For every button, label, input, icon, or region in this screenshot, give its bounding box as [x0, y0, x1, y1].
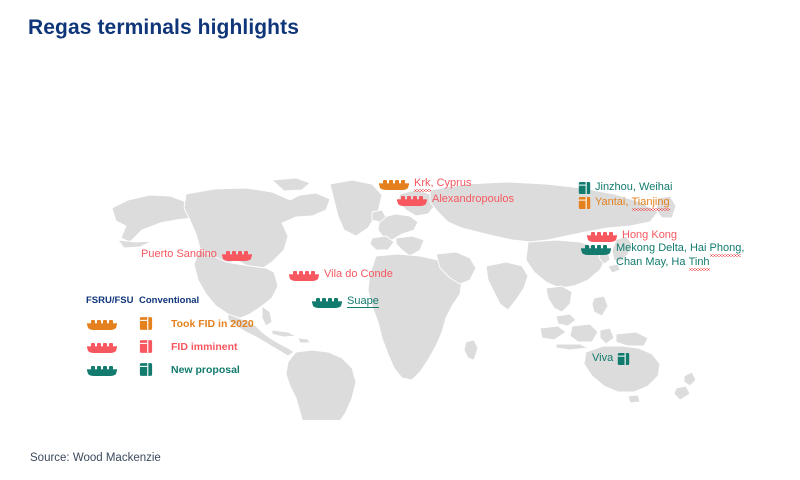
legend-header-conventional: Conventional: [139, 295, 199, 306]
marker-label-puerto-sandino: Puerto Sandino: [141, 248, 217, 262]
conventional-tank-icon: [139, 339, 153, 354]
landmass-italy-balkans: [396, 236, 424, 256]
landmass-hispaniola: [298, 338, 310, 343]
conventional-tank-icon: [578, 196, 591, 215]
landmass-india: [486, 262, 528, 310]
conventional-tank-icon: [139, 362, 153, 377]
marker-label-yantai-tianjing: Yantai, Tianjing: [595, 196, 670, 210]
marker-alexandropoulos[interactable]: Alexandropoulos: [396, 193, 514, 212]
marker-mekong-delta[interactable]: Mekong Delta, Hai Phong, Chan May, Ha Ti…: [580, 242, 744, 269]
fsru-ship-icon: [86, 317, 118, 331]
mekong-line1-a: Mekong Delta, Hai: [616, 242, 710, 254]
landmass-aleutians: [118, 240, 152, 248]
mekong-phong-misspelled: Phong: [710, 242, 742, 256]
marker-label-yantai: Yantai,: [595, 196, 632, 208]
landmass-south-america: [286, 350, 356, 420]
marker-label-tianjing-misspelled: Tianjing: [632, 196, 670, 210]
marker-label-mekong-line2: Chan May, Ha Tinh: [616, 256, 744, 270]
legend-conventional-icon-cell: [139, 362, 171, 377]
landmass-papua: [616, 332, 648, 346]
marker-puerto-sandino[interactable]: Puerto Sandino: [141, 248, 253, 267]
landmass-alaska: [112, 195, 196, 242]
legend-fsru-icon-cell: [86, 340, 139, 354]
marker-label-krk-cyprus: Krk, Cyprus: [414, 177, 471, 191]
landmass-philippines: [592, 296, 608, 316]
legend-row-fid-imminent[interactable]: FID imminent: [86, 337, 266, 356]
landmass-greenland: [330, 180, 382, 236]
landmass-baffin: [272, 178, 310, 191]
legend-header-row: FSRU/FSU Conventional: [86, 295, 266, 306]
mekong-line1-c: ,: [741, 242, 744, 254]
landmass-borneo: [570, 324, 598, 342]
landmass-tasmania: [628, 395, 640, 403]
marker-label-vila-do-conde: Vila do Conde: [324, 268, 393, 282]
marker-label-alexandropoulos: Alexandropoulos: [432, 193, 514, 207]
marker-label-jinzhou-weihai: Jinzhou, Weihai: [595, 181, 672, 195]
fsru-ship-icon: [311, 295, 343, 314]
landmass-indochina: [546, 286, 572, 312]
legend-fsru-icon-cell: [86, 317, 139, 331]
legend: FSRU/FSU Conventional: [86, 295, 266, 383]
slide-canvas: Regas terminals highlights: [0, 0, 800, 480]
fsru-ship-icon: [288, 268, 320, 287]
landmass-cuba: [272, 330, 296, 337]
mekong-line2-a: Chan May, Ha: [616, 256, 689, 268]
marker-label-cyprus: , Cyprus: [431, 177, 472, 189]
marker-label-suape-text: Suape: [347, 295, 379, 308]
landmass-new-zealand-n: [684, 372, 696, 386]
legend-conventional-icon-cell: [139, 316, 171, 331]
legend-header-fsru: FSRU/FSU: [86, 295, 139, 306]
fsru-ship-icon: [221, 248, 253, 267]
landmass-malaysia: [556, 314, 576, 326]
marker-suape[interactable]: Suape: [311, 295, 379, 314]
legend-conventional-icon-cell: [139, 339, 171, 354]
legend-label-new-proposal: New proposal: [171, 364, 240, 376]
page-title: Regas terminals highlights: [28, 16, 299, 40]
marker-label-viva: Viva: [592, 352, 613, 366]
marker-yantai-tianjing[interactable]: Yantai, Tianjing: [578, 196, 670, 215]
landmass-sulawesi: [600, 328, 614, 344]
legend-row-took-fid[interactable]: Took FID in 2020: [86, 314, 266, 333]
marker-label-mekong-delta: Mekong Delta, Hai Phong, Chan May, Ha Ti…: [616, 242, 744, 269]
legend-row-new-proposal[interactable]: New proposal: [86, 360, 266, 379]
legend-label-fid-imminent: FID imminent: [171, 341, 238, 353]
fsru-ship-icon: [580, 242, 612, 261]
mekong-tinh-misspelled: Tinh: [689, 256, 710, 270]
marker-label-krk-misspelled: Krk: [414, 177, 431, 191]
fsru-ship-icon: [86, 340, 118, 354]
source-caption: Source: Wood Mackenzie: [30, 452, 161, 464]
marker-label-hong-kong: Hong Kong: [622, 229, 677, 243]
landmass-sumatra: [540, 326, 566, 340]
landmass-madagascar: [464, 340, 478, 360]
marker-viva[interactable]: Viva: [592, 352, 630, 371]
conventional-tank-icon: [617, 352, 630, 371]
marker-label-suape: Suape: [347, 295, 379, 309]
marker-label-mekong-line1: Mekong Delta, Hai Phong,: [616, 242, 744, 256]
legend-label-took-fid: Took FID in 2020: [171, 318, 254, 330]
fsru-ship-icon: [86, 363, 118, 377]
marker-vila-do-conde[interactable]: Vila do Conde: [288, 268, 393, 287]
landmass-java: [556, 344, 588, 350]
landmass-new-zealand-s: [674, 386, 690, 400]
legend-fsru-icon-cell: [86, 363, 139, 377]
conventional-tank-icon: [139, 316, 153, 331]
fsru-ship-icon: [396, 193, 428, 212]
